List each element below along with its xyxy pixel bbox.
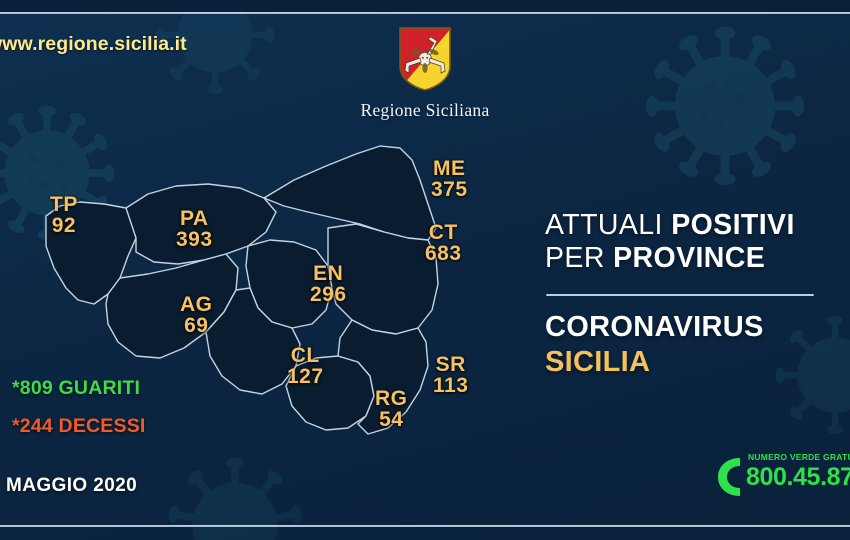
headline-divider [546,294,814,296]
infographic-canvas: www.regione.sicilia.it [0,0,850,540]
date-label: MAGGIO 2020 [6,475,137,497]
headline-line-2-light: PER [545,242,613,274]
headline-line-1: ATTUALI POSITIVI [545,209,835,242]
headline-line-2: PER PROVINCE [545,242,835,275]
subhead-block: CORONAVIRUS SICILIA [545,310,835,380]
phone-handset-icon [714,455,744,504]
hotline-caption: NUMERO VERDE GRATUITO [748,452,850,462]
bottom-bar [0,527,850,540]
sicilian-coat-of-arms-trinacria-icon [397,26,453,97]
headline-line-2-bold: PROVINCE [613,242,765,274]
stat-recovered: *809 GUARITI [12,377,140,400]
top-rule [0,12,850,14]
bottom-rule [0,525,850,527]
subhead-sicilia: SICILIA [545,345,835,380]
province-shape-ct [328,224,438,334]
hotline-number[interactable]: 800.45.87.8 [746,463,850,492]
hotline-caption-row: NUMERO VERDE GRATUITO [748,452,850,462]
emblem-caption: Regione Siciliana [0,100,850,121]
province-shape-rg [286,356,374,430]
headline-line-1-light: ATTUALI [545,209,671,241]
stat-deaths: *244 DECESSI [12,415,146,438]
headline-line-1-bold: POSITIVI [671,209,795,241]
top-bar [0,0,850,12]
headline-block: ATTUALI POSITIVI PER PROVINCE [545,209,835,275]
subhead-coronavirus: CORONAVIRUS [545,310,835,345]
regione-siciliana-emblem: Regione Siciliana [0,26,850,121]
